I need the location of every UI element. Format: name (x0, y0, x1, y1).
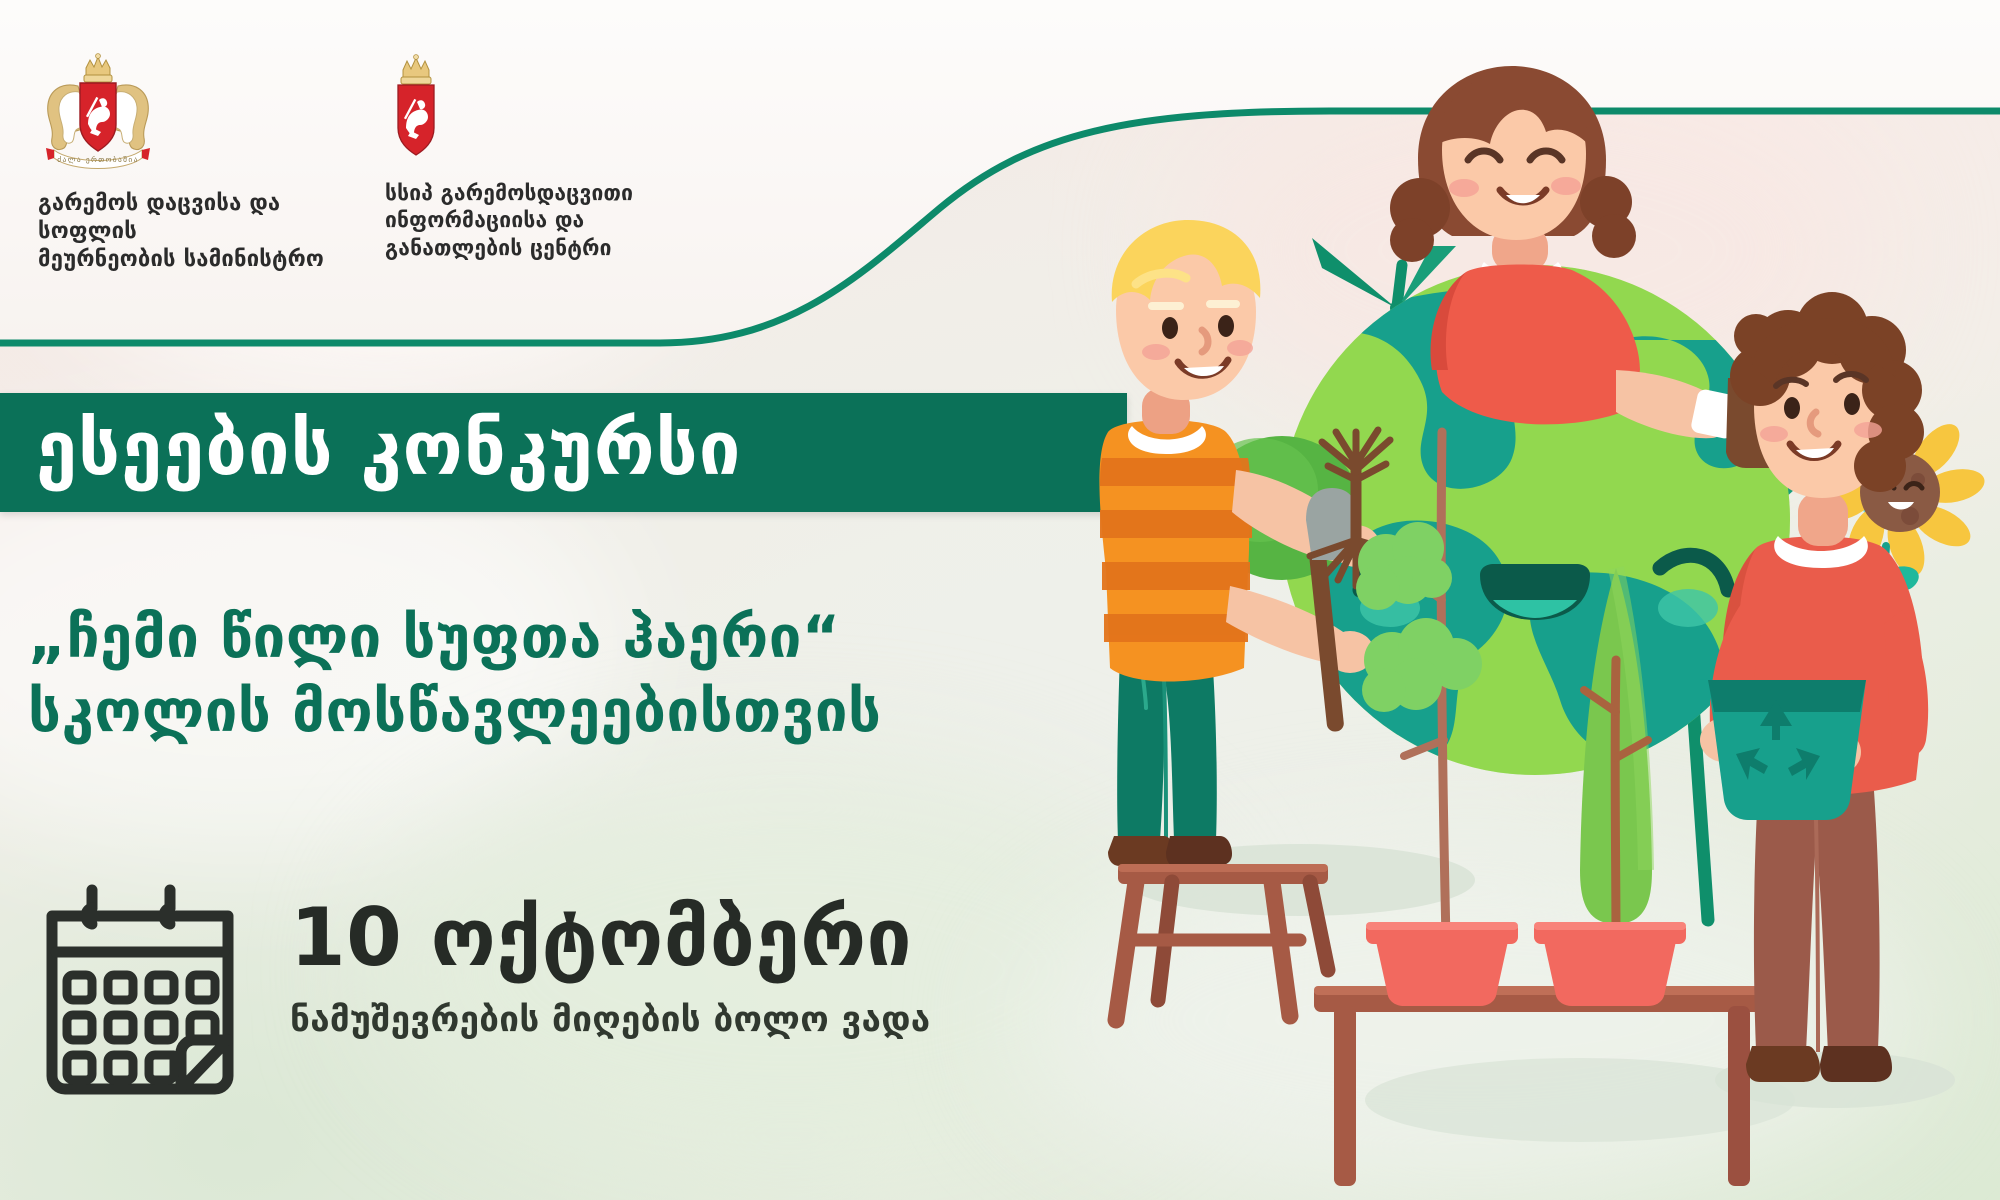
deadline-date: 10 ოქტომბერი (290, 898, 930, 978)
svg-text:ძალა ერთობაშია: ძალა ერთობაშია (57, 155, 139, 164)
logo-center: სსიპ გარემოსდაცვითი ინფორმაციისა და განა… (385, 52, 705, 262)
subtitle-line-2: სკოლის მოსწავლეებისთვის (28, 674, 1228, 748)
boy1-shoe-left (1108, 836, 1176, 866)
crown (84, 54, 112, 82)
subtitle-line-1: „ჩემი წილი სუფთა ჰაერი“ (28, 603, 841, 671)
page-title: ესეების კონკურსი (0, 412, 741, 486)
boy3-shoe-left (1746, 1046, 1820, 1082)
logo-ministry: ძალა ერთობაშია გარემოს დაცვისა და სოფლის… (38, 52, 368, 274)
logo-ministry-label: გარემოს დაცვისა და სოფლის მეურნეობის სამ… (38, 190, 368, 274)
boy3-shoe-right (1820, 1046, 1892, 1082)
subtitle: „ჩემი წილი სუფთა ჰაერი“ სკოლის მოსწავლეე… (28, 600, 1228, 748)
deadline-block: 10 ოქტომბერი ნამუშევრების მიღების ბოლო ვ… (34, 880, 930, 1102)
boy1-shoe-right (1166, 836, 1232, 866)
georgia-state-coat-of-arms-icon: ძალა ერთობაშია (38, 52, 158, 174)
crown (401, 55, 431, 84)
georgia-small-coat-of-arms-icon (385, 52, 447, 164)
deadline-caption: ნამუშევრების მიღების ბოლო ვადა (290, 1000, 930, 1040)
deadline-text: 10 ოქტომბერი ნამუშევრების მიღების ბოლო ვ… (290, 880, 930, 1040)
poster-canvas: ძალა ერთობაშია გარემოს დაცვისა და სოფლის… (0, 0, 2000, 1200)
recycling-bin (1708, 680, 1866, 820)
logo-center-label: სსიპ გარემოსდაცვითი ინფორმაციისა და განა… (385, 180, 705, 262)
children-caring-for-earth-illustration (1060, 40, 2000, 1200)
title-banner: ესეების კონკურსი (0, 393, 1127, 512)
calendar-icon (34, 880, 246, 1102)
